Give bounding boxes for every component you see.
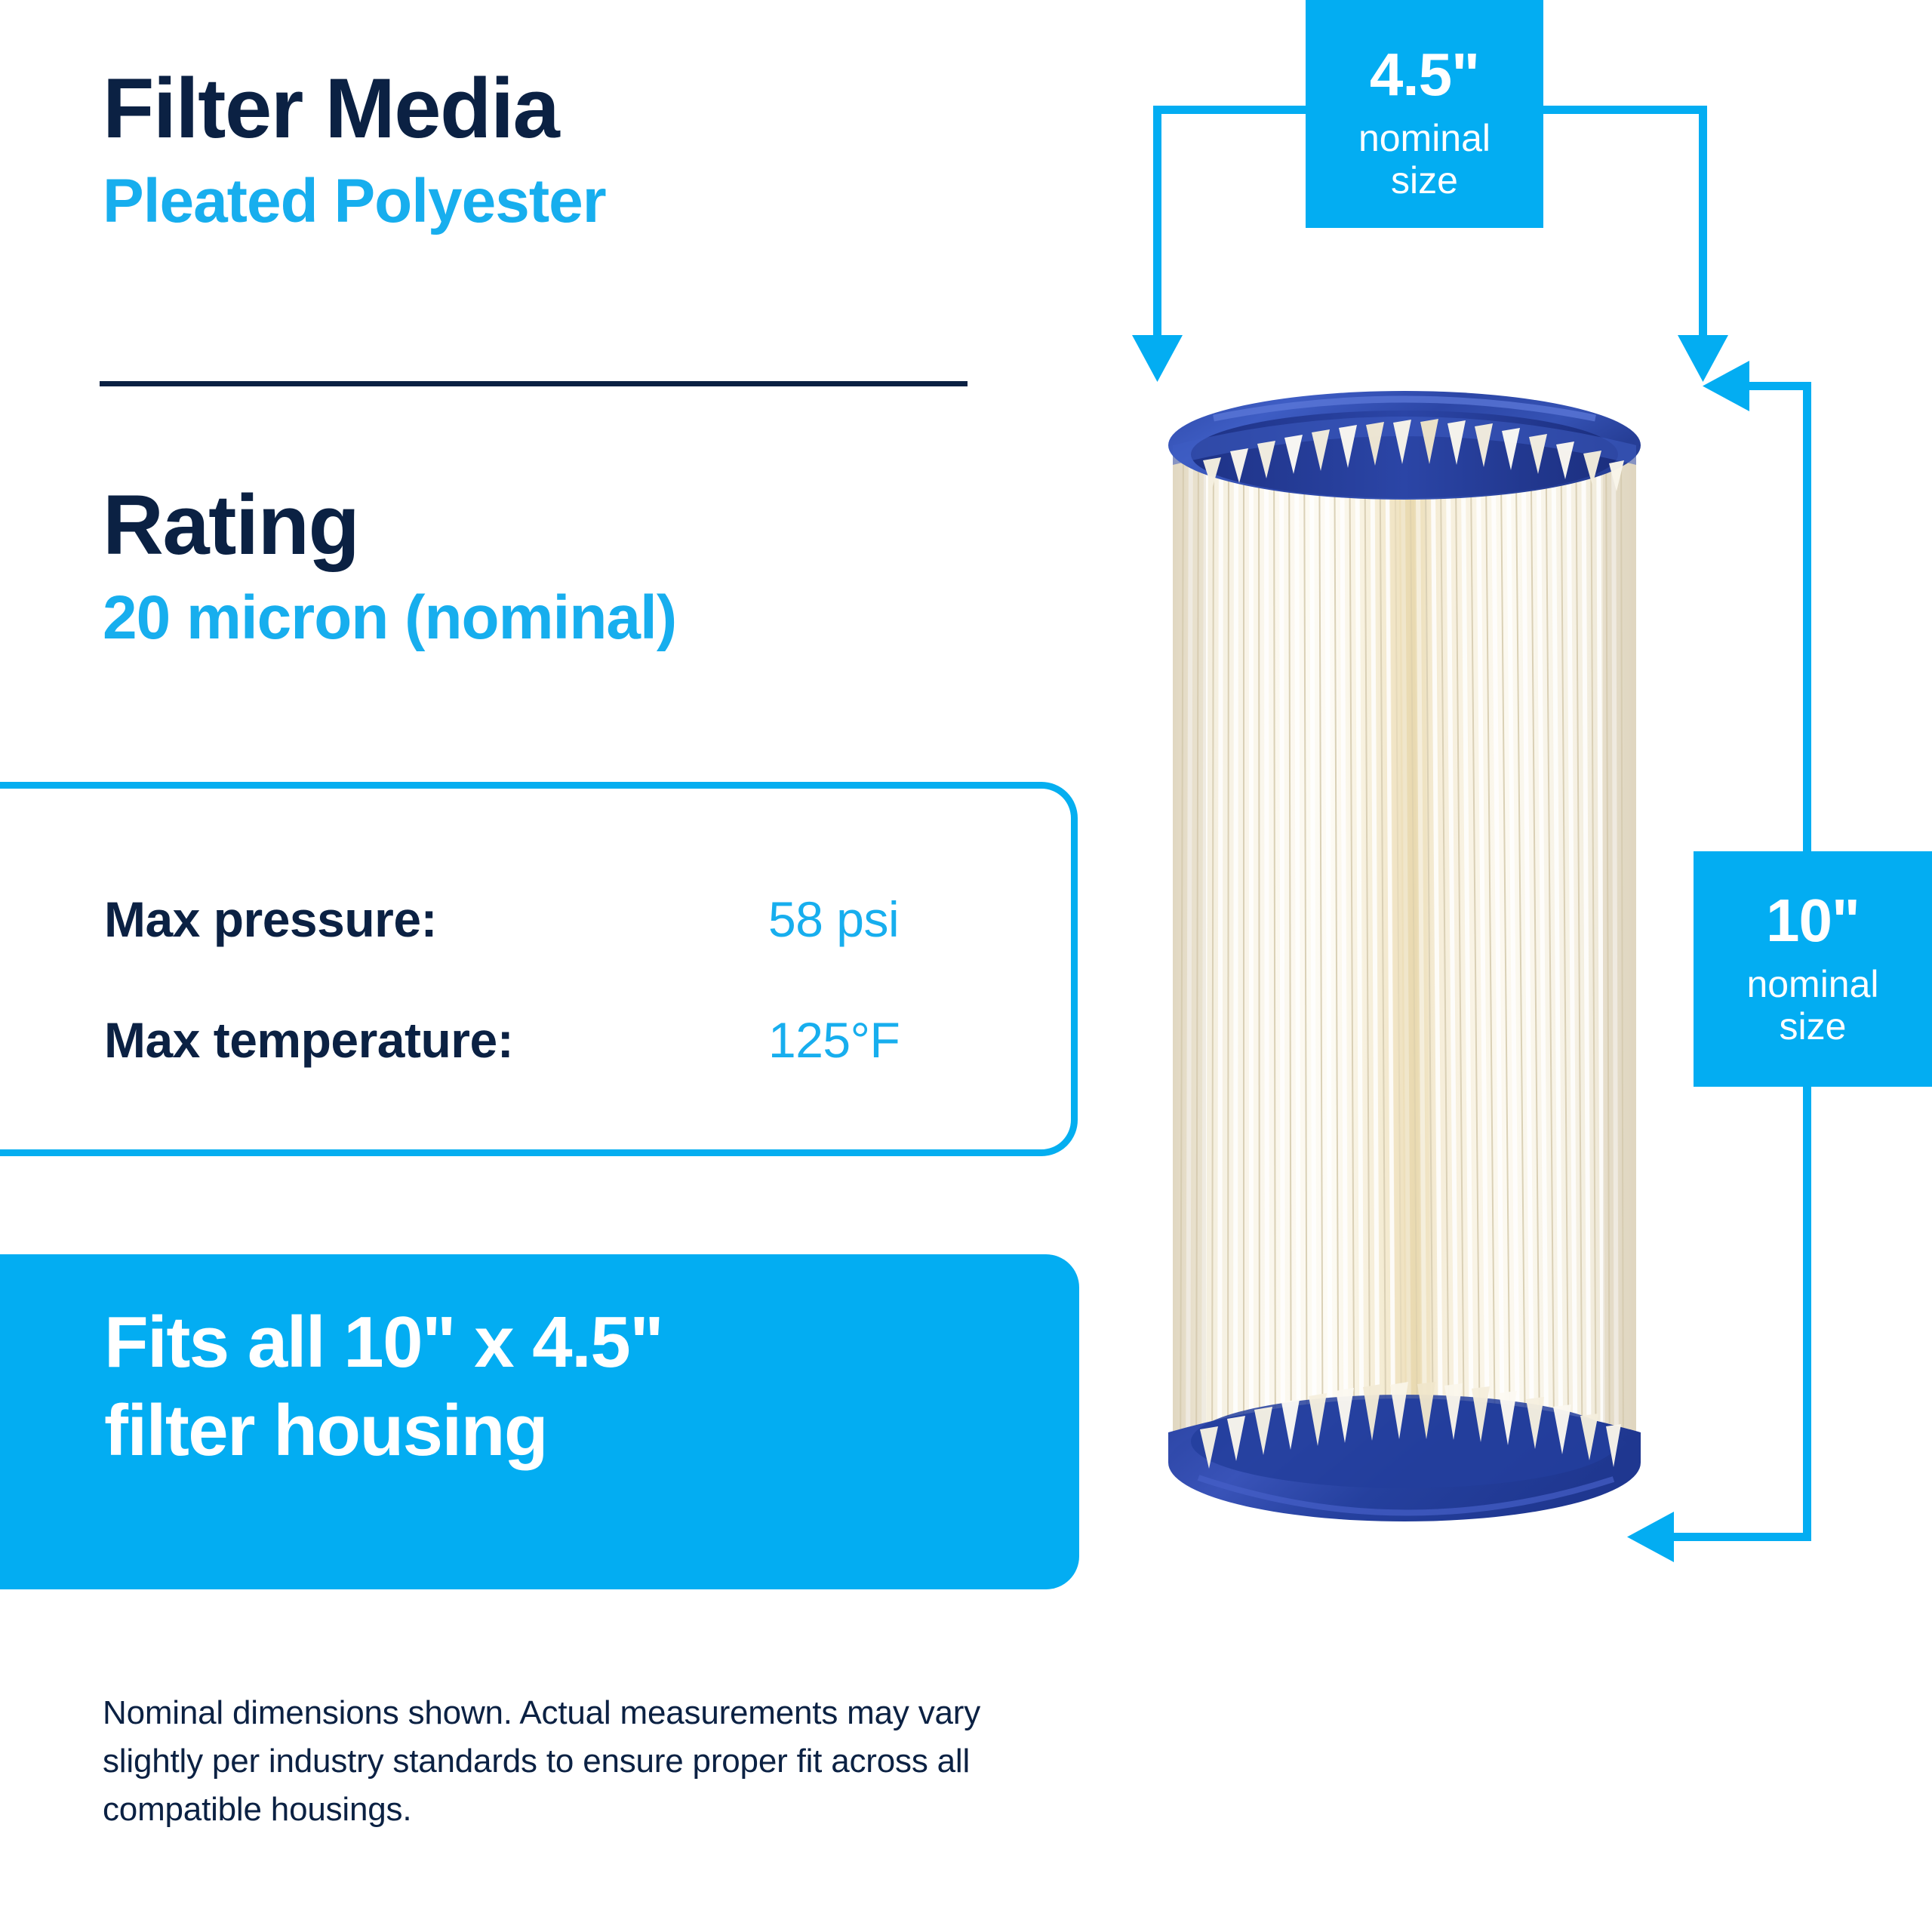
width-callout-caption-line2: size [1358,159,1491,202]
filter-media-heading-block: Filter Media Pleated Polyester [103,66,606,232]
filter-media-subtitle: Pleated Polyester [103,171,606,232]
section-divider [100,381,968,386]
spec-value-max-temperature: 125°F [768,1011,900,1069]
rating-title: Rating [103,483,676,568]
spec-label-max-pressure: Max pressure: [104,891,768,948]
rating-subtitle: 20 micron (nominal) [103,587,676,649]
width-callout-caption-line1: nominal [1358,117,1491,159]
fits-all-banner: Fits all 10" x 4.5" filter housing [0,1254,1079,1589]
spec-row-max-pressure: Max pressure: 58 psi [104,881,995,957]
filter-media-title: Filter Media [103,66,606,151]
width-callout-badge: 4.5" nominal size [1306,0,1543,228]
rating-heading-block: Rating 20 micron (nominal) [103,483,676,649]
spec-label-max-temperature: Max temperature: [104,1011,768,1069]
spec-row-max-temperature: Max temperature: 125°F [104,1002,995,1078]
infographic-canvas: Filter Media Pleated Polyester Rating 20… [0,0,1932,1932]
height-callout-value: 10" [1766,891,1860,951]
specifications-rows: Max pressure: 58 psi Max temperature: 12… [0,782,1078,1156]
height-callout-badge: 10" nominal size [1694,851,1932,1087]
height-callout-caption-line1: nominal [1746,963,1878,1005]
height-callout-caption: nominal size [1746,963,1878,1048]
banner-line-2: filter housing [104,1386,1079,1475]
width-callout-caption: nominal size [1358,117,1491,202]
banner-line-1: Fits all 10" x 4.5" [104,1298,1079,1386]
spec-value-max-pressure: 58 psi [768,891,899,948]
filter-cartridge-image [1153,376,1656,1568]
footnote-text: Nominal dimensions shown. Actual measure… [103,1689,1084,1833]
left-content-column: Filter Media Pleated Polyester Rating 20… [0,0,1102,1932]
height-callout-caption-line2: size [1746,1005,1878,1048]
bottom-end-cap [1168,1395,1641,1521]
width-callout-value: 4.5" [1370,45,1479,105]
